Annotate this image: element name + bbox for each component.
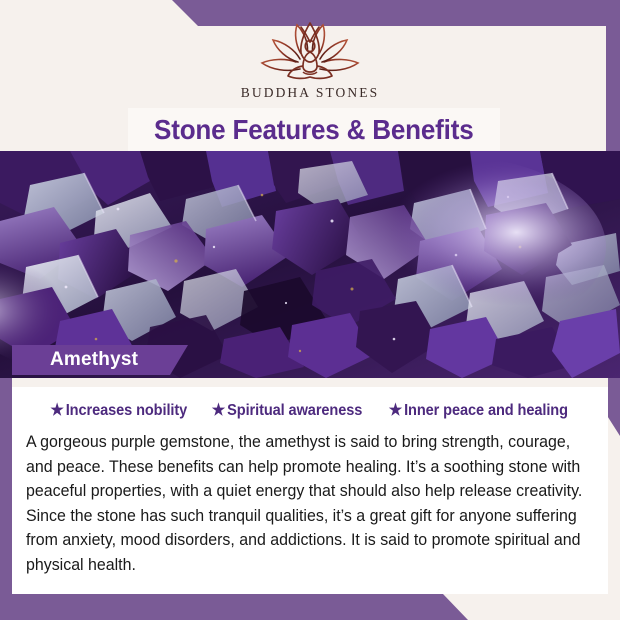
left-accent-strip <box>0 372 12 594</box>
infographic-card: BUDDHA STONES Stone Features & Benefits <box>0 0 620 620</box>
page-title: Stone Features & Benefits <box>154 114 473 146</box>
stone-photo <box>0 151 620 378</box>
panel-top-divider <box>12 378 608 387</box>
star-icon: ★ <box>212 403 225 419</box>
title-banner: Stone Features & Benefits <box>128 108 500 152</box>
stone-name-banner: Amethyst <box>12 345 188 375</box>
stone-description: A gorgeous purple gemstone, the amethyst… <box>26 430 587 578</box>
benefit-item: ★ Inner peace and healing <box>389 402 568 420</box>
lotus-meditation-icon <box>254 20 366 82</box>
benefit-item: ★ Spiritual awareness <box>212 402 362 420</box>
stone-name: Amethyst <box>50 349 138 371</box>
bottom-accent-bar <box>0 594 620 620</box>
star-icon: ★ <box>50 403 63 419</box>
benefit-label: Spiritual awareness <box>228 402 363 420</box>
benefit-label: Inner peace and healing <box>405 402 569 420</box>
brand-logo: BUDDHA STONES <box>0 20 620 110</box>
star-icon: ★ <box>389 403 402 419</box>
brand-name: BUDDHA STONES <box>241 85 379 101</box>
benefits-row: ★ Increases nobility ★ Spiritual awarene… <box>12 399 608 423</box>
benefit-item: ★ Increases nobility <box>50 402 187 420</box>
amethyst-crystal-image <box>0 151 620 378</box>
benefit-label: Increases nobility <box>66 402 187 420</box>
